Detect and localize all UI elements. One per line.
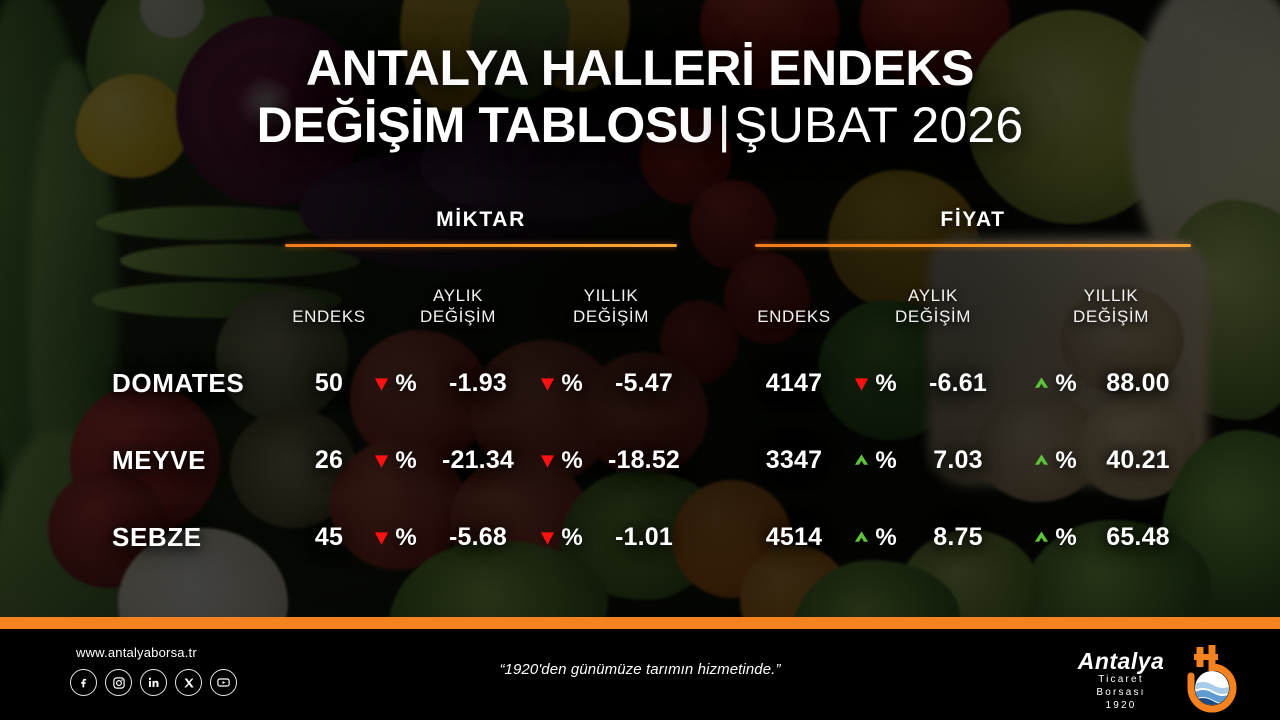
column-header-price-yearly-line1: YILLIK (1084, 286, 1139, 305)
domates-price-monthly-value: -6.61 (892, 345, 1024, 422)
domates-quantity-yearly-down-arrow-icon (539, 375, 556, 393)
meyve-quantity-monthly-down-arrow-icon (373, 452, 390, 470)
meyve-price-monthly-value: 7.03 (892, 422, 1024, 499)
meyve-price-yearly-up-arrow-icon (1033, 452, 1050, 470)
footer-orange-bar (0, 617, 1280, 629)
table-row: MEYVE26%-21.34%-18.523347%7.03%40.21 (0, 422, 1280, 499)
column-header-quantity-monthly-line1: AYLIK (433, 286, 483, 305)
column-header-quantity-monthly: AYLIK DEĞİŞİM (398, 285, 518, 327)
meyve-price-monthly-up-arrow-icon (853, 452, 870, 470)
sebze-quantity-yearly-value: -1.01 (578, 499, 710, 576)
domates-quantity-monthly-down-arrow-icon (373, 375, 390, 393)
column-header-quantity-monthly-line2: DEĞİŞİM (420, 307, 496, 326)
group-header-price-rule (755, 244, 1191, 247)
table-row: DOMATES50%-1.93%-5.474147%-6.61%88.00 (0, 345, 1280, 422)
column-header-price-monthly-line2: DEĞİŞİM (895, 307, 971, 326)
column-header-price-index: ENDEKS (737, 306, 851, 327)
column-header-price-yearly: YILLIK DEĞİŞİM (1050, 285, 1172, 327)
sebze-price-monthly-value: 8.75 (892, 499, 1024, 576)
group-header-quantity-label: MİKTAR (285, 208, 677, 232)
group-header-quantity: MİKTAR (285, 208, 677, 247)
row-label-sebze: SEBZE (112, 499, 202, 576)
poster-root: ANTALYA HALLERİ ENDEKS DEĞİŞİM TABLOSU|Ş… (0, 0, 1280, 720)
row-label-domates: DOMATES (112, 345, 244, 422)
sebze-price-index-value: 4514 (737, 499, 851, 576)
table-row: SEBZE45%-5.68%-1.014514%8.75%65.48 (0, 499, 1280, 576)
meyve-quantity-yearly-down-arrow-icon (539, 452, 556, 470)
row-label-meyve: MEYVE (112, 422, 206, 499)
antalya-ticaret-borsasi-logo: Antalya Ticaret Borsası 1920 (1056, 639, 1252, 713)
domates-quantity-monthly-value: -1.93 (412, 345, 544, 422)
meyve-quantity-yearly-value: -18.52 (578, 422, 710, 499)
title-line-2: DEĞİŞİM TABLOSU|ŞUBAT 2026 (0, 97, 1280, 154)
sebze-price-yearly-value: 65.48 (1072, 499, 1204, 576)
column-header-quantity-yearly-line1: YILLIK (584, 286, 639, 305)
column-header-price-yearly-line2: DEĞİŞİM (1073, 307, 1149, 326)
title-separator: | (714, 97, 735, 153)
meyve-quantity-monthly-value: -21.34 (412, 422, 544, 499)
group-header-price-label: FİYAT (755, 208, 1191, 232)
sebze-price-yearly-up-arrow-icon (1033, 529, 1050, 547)
sebze-quantity-yearly-down-arrow-icon (539, 529, 556, 547)
logo-tb-monogram-icon (1160, 641, 1244, 718)
website-link[interactable]: www.antalyaborsa.tr (76, 645, 197, 660)
page-title: ANTALYA HALLERİ ENDEKS DEĞİŞİM TABLOSU|Ş… (0, 40, 1280, 154)
sebze-price-monthly-up-arrow-icon (853, 529, 870, 547)
sebze-quantity-monthly-value: -5.68 (412, 499, 544, 576)
title-line-1: ANTALYA HALLERİ ENDEKS (0, 40, 1280, 97)
domates-price-yearly-up-arrow-icon (1033, 375, 1050, 393)
meyve-price-index-value: 3347 (737, 422, 851, 499)
title-period: ŞUBAT 2026 (734, 97, 1023, 153)
title-line-1-text: ANTALYA HALLERİ ENDEKS (306, 40, 974, 96)
domates-price-yearly-value: 88.00 (1072, 345, 1204, 422)
column-header-price-monthly: AYLIK DEĞİŞİM (873, 285, 993, 327)
domates-price-monthly-down-arrow-icon (853, 375, 870, 393)
column-header-quantity-yearly-line2: DEĞİŞİM (573, 307, 649, 326)
title-line-2-main: DEĞİŞİM TABLOSU (257, 97, 714, 153)
group-header-quantity-rule (285, 244, 677, 247)
column-header-price-monthly-line1: AYLIK (908, 286, 958, 305)
sebze-quantity-monthly-down-arrow-icon (373, 529, 390, 547)
group-header-price: FİYAT (755, 208, 1191, 247)
domates-price-index-value: 4147 (737, 345, 851, 422)
domates-quantity-yearly-value: -5.47 (578, 345, 710, 422)
column-header-quantity-index: ENDEKS (272, 306, 386, 327)
column-headers: ENDEKS AYLIK DEĞİŞİM YILLIK DEĞİŞİM ENDE… (0, 265, 1280, 327)
meyve-price-yearly-value: 40.21 (1072, 422, 1204, 499)
column-header-quantity-yearly: YILLIK DEĞİŞİM (550, 285, 672, 327)
data-table: DOMATES50%-1.93%-5.474147%-6.61%88.00MEY… (0, 345, 1280, 576)
